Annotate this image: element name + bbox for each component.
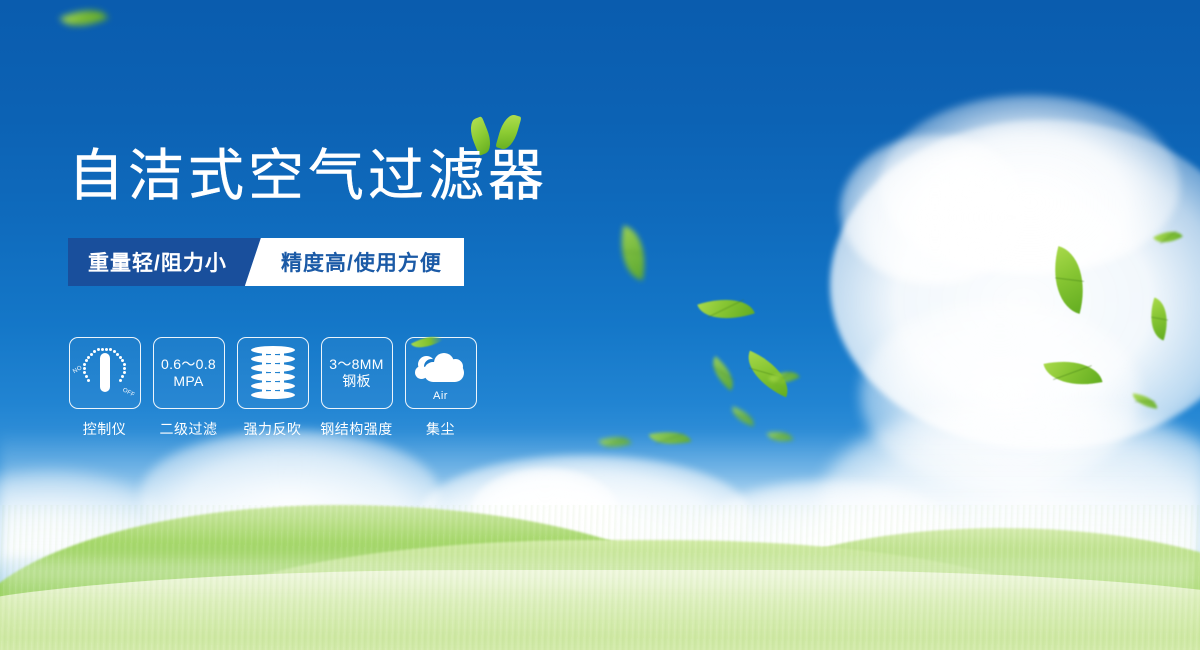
floating-leaf — [599, 430, 632, 453]
floating-leaf — [60, 0, 108, 36]
dial-dot — [116, 353, 119, 356]
dial-control-icon: NO OFF — [76, 345, 134, 401]
floating-leaf — [1131, 393, 1158, 409]
feature-caption-controller: 控制仪 — [83, 419, 127, 439]
floating-leaf — [705, 356, 742, 391]
coil-bar — [280, 349, 284, 397]
feature-item-pressure[interactable]: 0.6～0.8 MPA 二级过滤 — [152, 337, 225, 439]
feature-icon-box-blowback — [237, 337, 309, 409]
feature-icon-box-steel: 3～8MM 钢板 — [321, 337, 393, 409]
air-cloud-icon: Air — [414, 348, 468, 398]
cloud-right-top — [880, 95, 1180, 275]
dial-dot — [123, 367, 126, 370]
cloud-body — [424, 362, 464, 382]
dial-dot — [87, 379, 90, 382]
dial-dot — [119, 356, 122, 359]
floating-leaf — [1153, 224, 1183, 249]
coil-bar — [271, 349, 275, 397]
feature-icon-box-controller: NO OFF — [69, 337, 141, 409]
feature-caption-dust: 集尘 — [426, 419, 455, 439]
feature-caption-steel: 钢结构强度 — [320, 419, 393, 439]
floating-leaf — [767, 427, 793, 445]
subtitle-left-tag: 重量轻/阻力小 — [68, 238, 261, 286]
dial-dot — [85, 375, 88, 378]
dial-dot — [123, 363, 126, 366]
dial-dot — [87, 356, 90, 359]
air-label: Air — [414, 390, 468, 402]
title-block: 自洁式空气过滤器 — [68, 140, 688, 212]
dial-dot — [85, 359, 88, 362]
floating-leaf — [697, 289, 754, 330]
dial-dot — [123, 371, 126, 374]
pressure-text-icon: 0.6～0.8 MPA — [161, 356, 216, 390]
coil-blowback-icon — [251, 346, 295, 400]
feature-caption-pressure: 二级过滤 — [160, 419, 218, 439]
cloud-right-puff2 — [860, 300, 1140, 490]
steel-plate-text-icon: 3～8MM 钢板 — [329, 356, 383, 390]
dial-label-off: OFF — [121, 387, 135, 398]
dial-dot — [121, 359, 124, 362]
grass-texture — [0, 505, 1200, 650]
subtitle-bar: 重量轻/阻力小 精度高/使用方便 — [68, 238, 464, 286]
dial-pointer — [100, 353, 110, 392]
air-leaf-decoration — [410, 330, 442, 355]
dial-dot — [83, 363, 86, 366]
feature-item-dust[interactable]: Air 集尘 — [404, 337, 477, 439]
floating-leaf — [613, 225, 653, 280]
feature-item-blowback[interactable]: 强力反吹 — [236, 337, 309, 439]
page-title: 自洁式空气过滤器 — [68, 140, 688, 212]
floating-leaf — [1143, 298, 1176, 341]
dial-dot — [83, 371, 86, 374]
feature-caption-blowback: 强力反吹 — [244, 419, 302, 439]
feature-icon-box-dust: Air — [405, 337, 477, 409]
floating-leaf — [1043, 353, 1102, 394]
floating-leaf — [729, 406, 758, 426]
dial-label-on: NO — [72, 365, 83, 375]
dial-dot — [119, 379, 122, 382]
dial-dot — [101, 348, 104, 351]
feature-icon-box-pressure: 0.6～0.8 MPA — [153, 337, 225, 409]
feature-item-steel[interactable]: 3～8MM 钢板 钢结构强度 — [320, 337, 393, 439]
dial-dot — [93, 350, 96, 353]
floating-leaf — [1043, 246, 1095, 314]
feature-item-controller[interactable]: NO OFF 控制仪 — [68, 337, 141, 439]
floating-leaf — [649, 426, 691, 450]
feature-list: NO OFF 控制仪 0.6～0.8 MPA 二级过滤 — [68, 337, 477, 439]
cloud-right-puff — [840, 135, 1030, 285]
coil-bar — [262, 349, 266, 397]
dial-dot — [105, 348, 108, 351]
dial-dot — [90, 353, 93, 356]
dial-dot — [109, 348, 112, 351]
dial-dot — [121, 375, 124, 378]
product-banner: 自洁式空气过滤器 重量轻/阻力小 精度高/使用方便 NO OFF 控制仪 0.6… — [0, 0, 1200, 650]
dial-dot — [97, 348, 100, 351]
subtitle-right-tag: 精度高/使用方便 — [245, 238, 464, 286]
